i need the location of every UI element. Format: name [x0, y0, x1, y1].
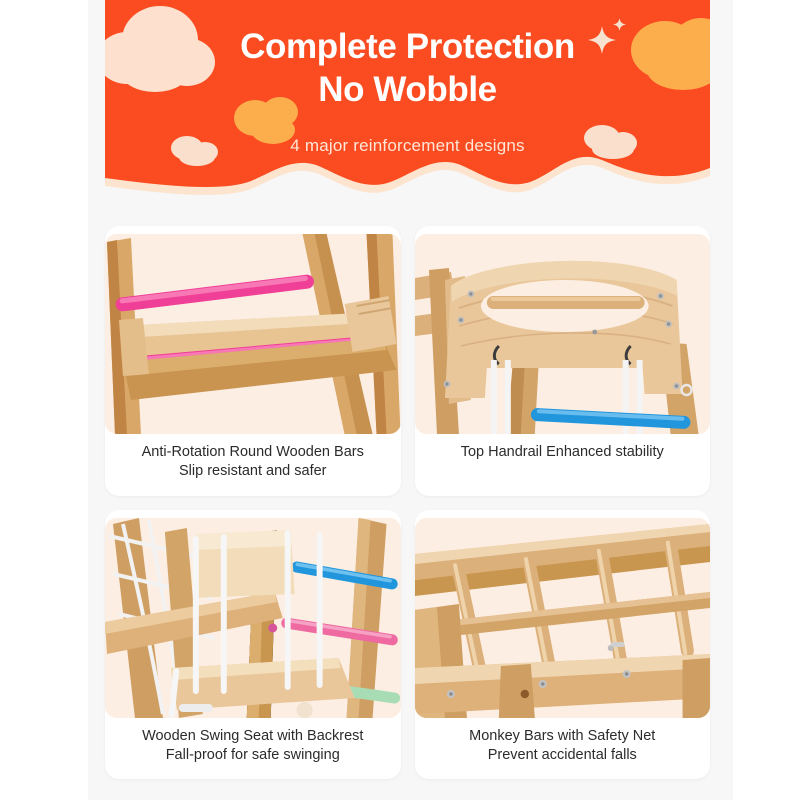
photo-illustration: [105, 234, 401, 434]
caption-line-1: Anti-Rotation Round Wooden Bars: [115, 443, 391, 462]
banner-title: Complete Protection No Wobble: [105, 26, 710, 111]
caption-line-2: Prevent accidental falls: [425, 746, 701, 765]
photo-illustration: [105, 518, 401, 718]
banner-subtitle: 4 major reinforcement designs: [105, 136, 710, 156]
caption-line-2: Slip resistant and safer: [115, 462, 391, 481]
photo-illustration: [415, 518, 711, 718]
caption-line-1: Monkey Bars with Safety Net: [425, 727, 701, 746]
feature-photo-monkey-bars: [415, 518, 711, 718]
banner-content: Complete Protection No Wobble 4 major re…: [105, 0, 710, 208]
feature-card[interactable]: Top Handrail Enhanced stability: [415, 226, 711, 496]
caption-line-1: Top Handrail Enhanced stability: [425, 443, 701, 462]
feature-photo-top-handrail: [415, 234, 711, 434]
infographic-page: Complete Protection No Wobble 4 major re…: [0, 0, 800, 800]
feature-card[interactable]: Anti-Rotation Round Wooden Bars Slip res…: [105, 226, 401, 496]
caption-line-2: Fall-proof for safe swinging: [115, 746, 391, 765]
header-banner: Complete Protection No Wobble 4 major re…: [105, 0, 710, 208]
banner-title-line-1: Complete Protection: [240, 27, 575, 66]
feature-card[interactable]: Wooden Swing Seat with Backrest Fall-pro…: [105, 510, 401, 780]
feature-caption: Wooden Swing Seat with Backrest Fall-pro…: [105, 718, 401, 780]
feature-caption: Monkey Bars with Safety Net Prevent acci…: [415, 718, 711, 780]
banner-title-line-2: No Wobble: [105, 69, 710, 112]
caption-line-1: Wooden Swing Seat with Backrest: [115, 727, 391, 746]
feature-photo-anti-rotation-bars: [105, 234, 401, 434]
feature-photo-swing-seat: [105, 518, 401, 718]
feature-card[interactable]: Monkey Bars with Safety Net Prevent acci…: [415, 510, 711, 780]
feature-caption: Top Handrail Enhanced stability: [415, 434, 711, 476]
feature-caption: Anti-Rotation Round Wooden Bars Slip res…: [105, 434, 401, 496]
feature-card-grid: Anti-Rotation Round Wooden Bars Slip res…: [105, 226, 710, 779]
photo-illustration: [415, 234, 711, 434]
